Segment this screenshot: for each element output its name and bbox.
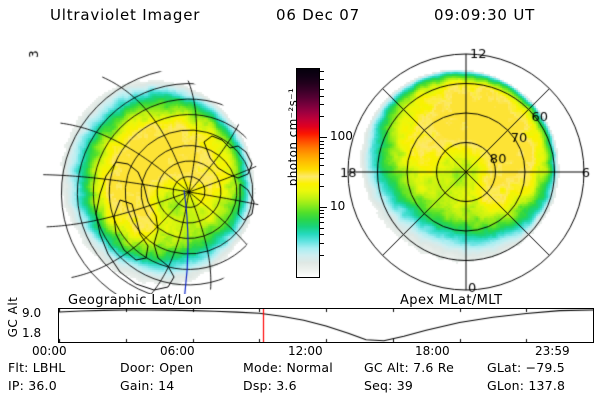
strip-x-tick-label: 18:00 <box>415 344 450 358</box>
colorbar-minor-tick <box>319 96 324 97</box>
magnetic-dial-panel <box>338 44 592 296</box>
colorbar-minor-tick <box>319 79 324 80</box>
colorbar-box <box>296 68 320 278</box>
status-field-value: 137.8 <box>524 378 565 393</box>
colorbar-minor-tick <box>319 255 324 256</box>
strip-plot-box <box>58 308 594 343</box>
colorbar-major-tick <box>319 137 327 138</box>
status-field: GC Alt: 7.6 Re <box>364 360 454 375</box>
status-field-label: Mode: <box>243 360 282 375</box>
observation-date: 06 Dec 07 <box>276 6 360 24</box>
status-field-label: Flt: <box>8 360 29 375</box>
strip-x-tick-label: 23:59 <box>535 344 570 358</box>
status-field-value: 14 <box>154 378 174 393</box>
status-field-label: IP: <box>8 378 24 393</box>
colorbar-minor-tick <box>319 243 324 244</box>
colorbar-minor-tick <box>319 165 324 166</box>
colorbar-major-tick <box>319 207 327 208</box>
magnetic-aurora-dial <box>338 44 592 296</box>
colorbar-group: photon cm⁻²s⁻¹ 10010 <box>272 56 338 296</box>
strip-x-tick-label: 12:00 <box>288 344 323 358</box>
status-field-value: 7.6 Re <box>409 360 454 375</box>
status-field-value: 3.6 <box>272 378 297 393</box>
altitude-trace <box>59 309 593 342</box>
colorbar-minor-tick <box>319 234 324 235</box>
status-field-value: LBHL <box>29 360 66 375</box>
status-field-label: Gain: <box>120 378 154 393</box>
colorbar-minor-tick <box>319 174 324 175</box>
strip-title-right: Apex MLat/MLT <box>400 293 502 308</box>
status-field: Dsp: 3.6 <box>243 378 297 393</box>
status-field-label: Dsp: <box>243 378 272 393</box>
status-field-label: GC Alt: <box>364 360 409 375</box>
status-field-value: 39 <box>393 378 413 393</box>
colorbar-minor-tick <box>319 210 324 211</box>
colorbar-gradient <box>297 69 319 277</box>
colorbar-minor-tick <box>319 89 324 90</box>
status-field-label: GLat: <box>487 360 521 375</box>
status-field: GLat: −79.5 <box>487 360 565 375</box>
colorbar-minor-tick <box>319 141 324 142</box>
strip-x-tick-label: 00:00 <box>32 344 67 358</box>
status-field-value: 36.0 <box>24 378 57 393</box>
observation-time: 09:09:30 UT <box>434 6 535 24</box>
colorbar-minor-tick <box>319 104 324 105</box>
colorbar-minor-tick <box>319 228 324 229</box>
geographic-aurora-image <box>8 44 270 294</box>
status-field: IP: 36.0 <box>8 378 57 393</box>
status-panel: Flt: LBHLDoor: OpenMode: NormalGC Alt: 7… <box>0 360 600 400</box>
status-field-label: Seq: <box>364 378 393 393</box>
status-field-label: GLon: <box>487 378 524 393</box>
colorbar-minor-tick <box>319 71 324 72</box>
header-bar: Ultraviolet Imager 06 Dec 07 09:09:30 UT <box>0 6 600 32</box>
strip-x-tick-label: 06:00 <box>160 344 195 358</box>
status-field: Gain: 14 <box>120 378 174 393</box>
instrument-title: Ultraviolet Imager <box>50 6 200 24</box>
colorbar-minor-tick <box>319 217 324 218</box>
colorbar-minor-tick <box>319 144 324 145</box>
status-field: Mode: Normal <box>243 360 333 375</box>
colorbar-minor-tick <box>319 213 324 214</box>
strip-y-tick-label: 1.8 <box>22 326 41 340</box>
strip-title-left: Geographic Lat/Lon <box>68 293 202 308</box>
colorbar-minor-tick <box>319 186 324 187</box>
status-field-value: Open <box>155 360 193 375</box>
colorbar-minor-tick <box>319 158 324 159</box>
colorbar-minor-tick <box>319 222 324 223</box>
status-field-value: −79.5 <box>521 360 564 375</box>
status-field: GLon: 137.8 <box>487 378 565 393</box>
status-field-value: Normal <box>282 360 333 375</box>
colorbar-minor-tick <box>319 148 324 149</box>
status-field: Flt: LBHL <box>8 360 65 375</box>
colorbar-minor-tick <box>319 153 324 154</box>
altitude-strip-chart: GC Alt Geographic Lat/Lon Apex MLat/MLT … <box>0 296 600 354</box>
status-field: Door: Open <box>120 360 193 375</box>
colorbar-minor-tick <box>319 116 324 117</box>
strip-y-axis-label: GC Alt <box>6 286 20 348</box>
geographic-image-panel <box>8 44 270 294</box>
strip-y-tick-label: 9.0 <box>22 306 41 320</box>
status-field-label: Door: <box>120 360 155 375</box>
status-field: Seq: 39 <box>364 378 413 393</box>
